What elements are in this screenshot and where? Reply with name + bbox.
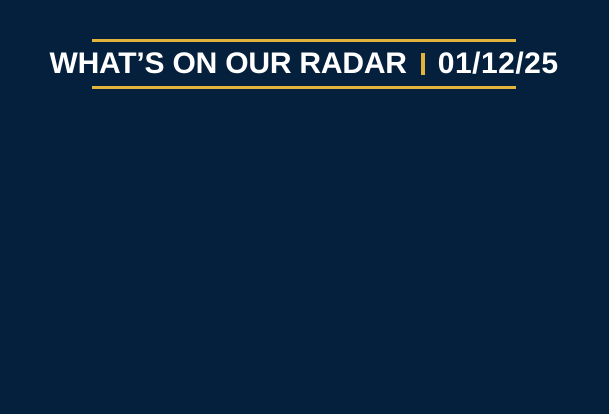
header-bottom-rule [92,86,516,89]
slide-canvas: WHAT’S ON OUR RADAR 01/12/25 [0,0,609,414]
header-separator-bar [421,53,425,75]
page-title: WHAT’S ON OUR RADAR [49,49,406,79]
header-banner: WHAT’S ON OUR RADAR 01/12/25 [92,39,516,89]
slide-body-area [0,100,609,414]
header-row: WHAT’S ON OUR RADAR 01/12/25 [92,42,516,86]
header-date: 01/12/25 [438,49,559,79]
